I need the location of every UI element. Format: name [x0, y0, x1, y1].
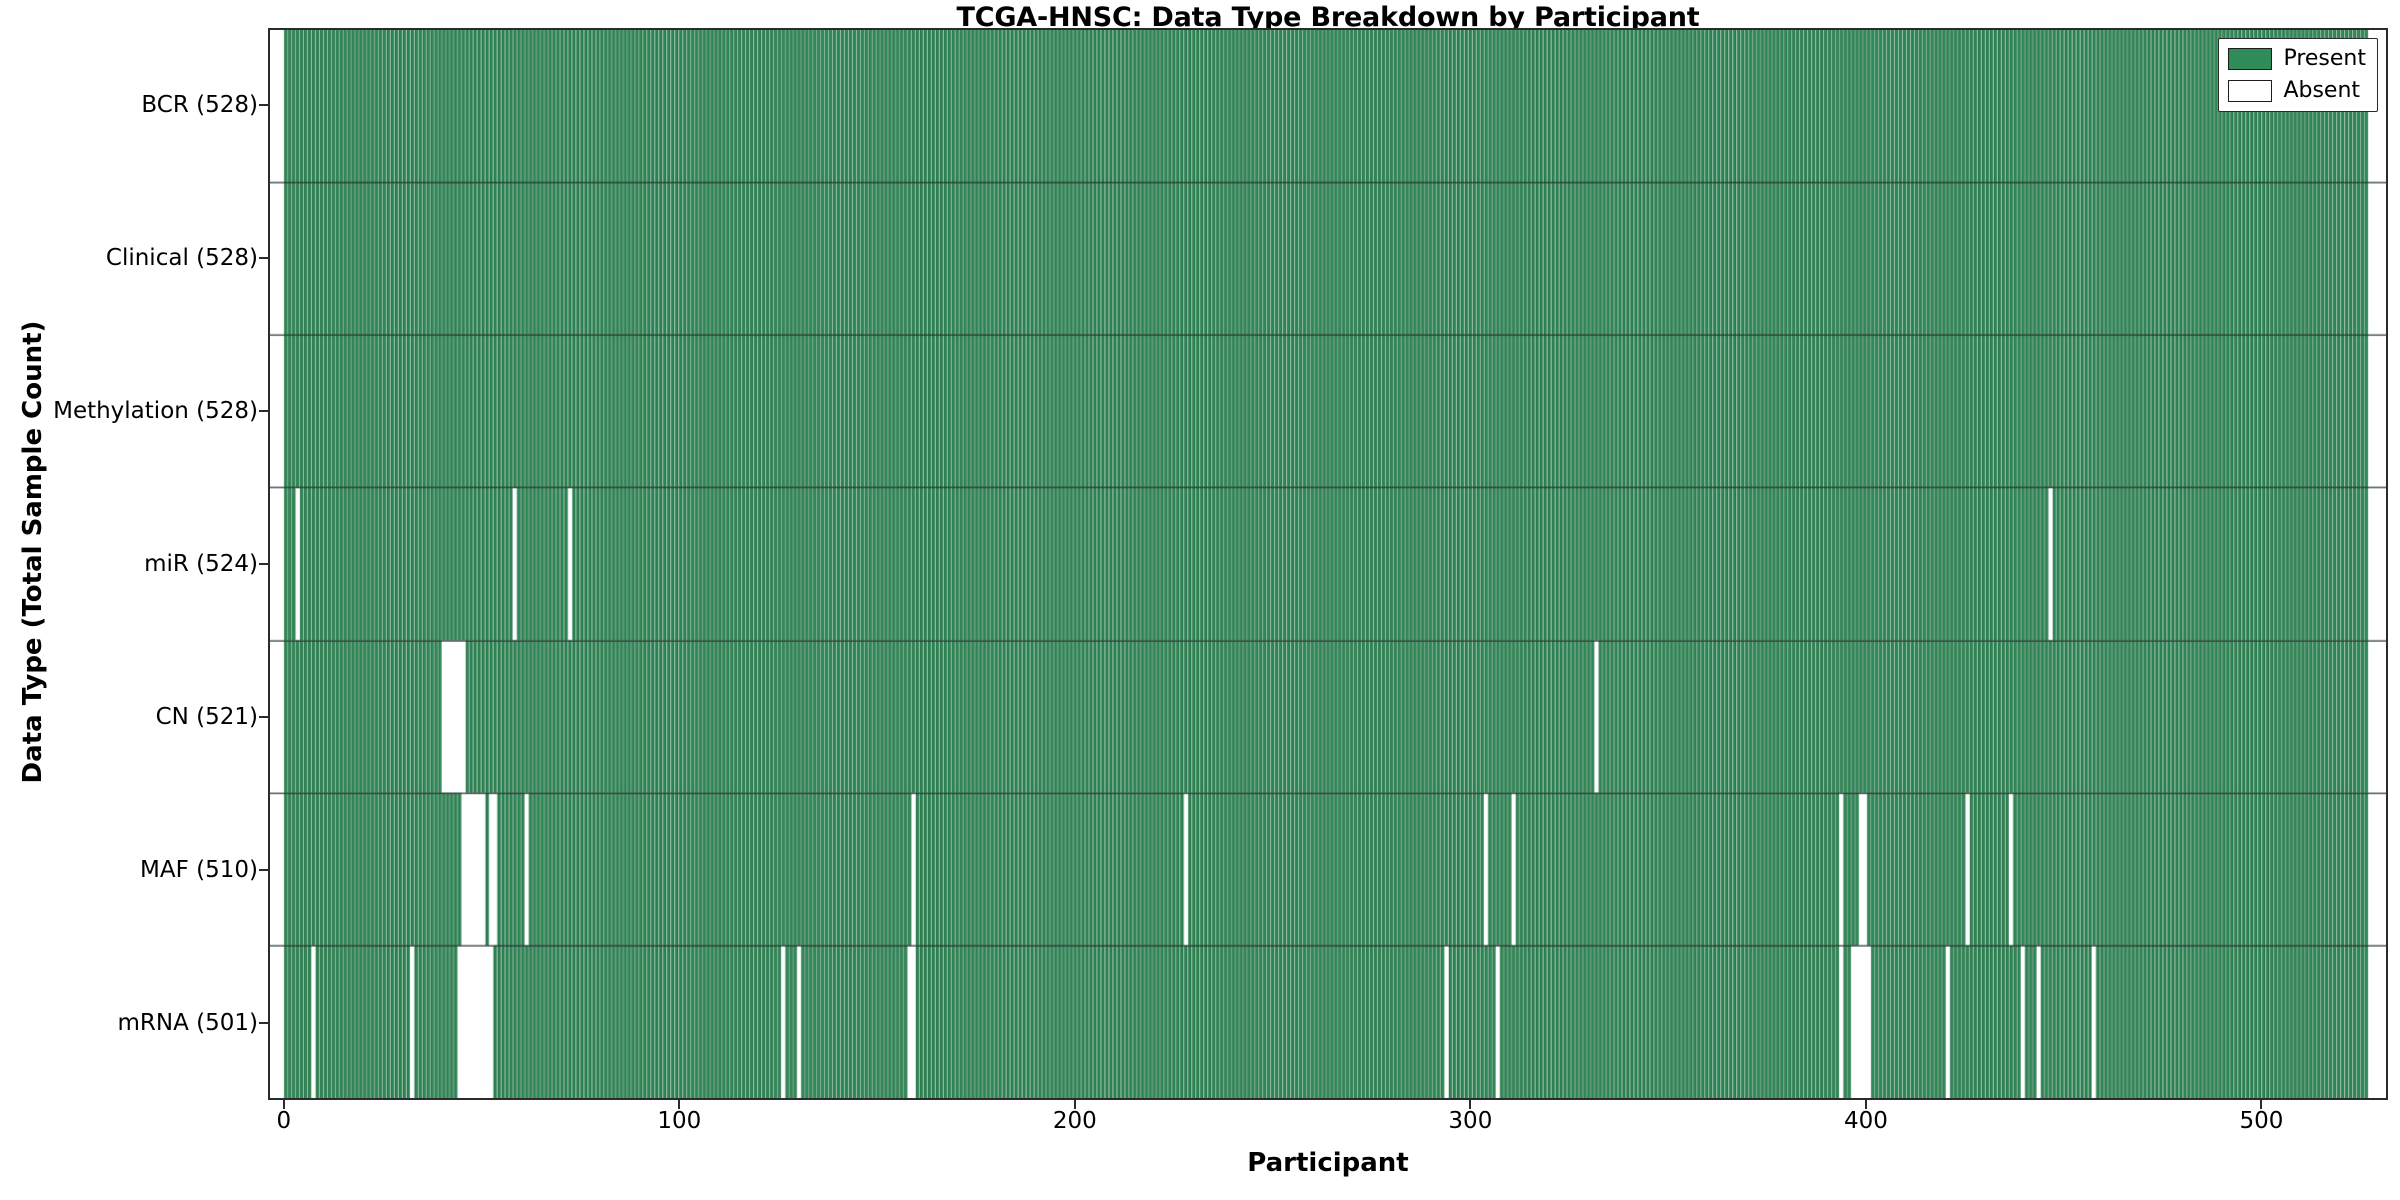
y-tick-mark — [259, 410, 268, 412]
x-tick-label-500: 500 — [2239, 1108, 2283, 1134]
legend-label-present: Present — [2283, 48, 2366, 70]
y-tick-label-methylation: Methylation (528) — [0, 398, 258, 424]
heatmap-grid — [270, 30, 2386, 1098]
legend-swatch-present — [2228, 48, 2272, 70]
figure-canvas: TCGA-HNSC: Data Type Breakdown by Partic… — [0, 0, 2400, 1200]
x-tick-label-200: 200 — [1053, 1108, 1097, 1134]
legend-item-present: Present — [2228, 46, 2366, 72]
legend: Present Absent — [2218, 38, 2378, 112]
x-axis-label: Participant — [268, 1148, 2388, 1178]
y-tick-label-mir: miR (524) — [0, 551, 258, 577]
y-tick-mark — [259, 716, 268, 718]
legend-label-absent: Absent — [2283, 80, 2360, 102]
x-tick-label-300: 300 — [1448, 1108, 1492, 1134]
x-tick-mark — [1469, 1100, 1471, 1109]
x-tick-mark — [283, 1100, 285, 1109]
plot-area: Present Absent — [268, 28, 2388, 1100]
y-tick-label-bcr: BCR (528) — [0, 92, 258, 118]
y-tick-mark — [259, 869, 268, 871]
legend-swatch-absent — [2228, 80, 2272, 102]
y-tick-label-mrna: mRNA (501) — [0, 1010, 258, 1036]
y-tick-label-cn: CN (521) — [0, 704, 258, 730]
y-tick-mark — [259, 257, 268, 259]
y-tick-mark — [259, 1022, 268, 1024]
y-tick-label-maf: MAF (510) — [0, 857, 258, 883]
x-tick-mark — [678, 1100, 680, 1109]
legend-item-absent: Absent — [2228, 78, 2366, 104]
x-tick-label-0: 0 — [276, 1108, 291, 1134]
x-tick-mark — [1074, 1100, 1076, 1109]
y-tick-mark — [259, 563, 268, 565]
x-tick-mark — [2260, 1100, 2262, 1109]
y-tick-label-clinical: Clinical (528) — [0, 245, 258, 271]
x-tick-label-100: 100 — [657, 1108, 701, 1134]
y-tick-mark — [259, 104, 268, 106]
x-tick-label-400: 400 — [1844, 1108, 1888, 1134]
x-tick-mark — [1865, 1100, 1867, 1109]
